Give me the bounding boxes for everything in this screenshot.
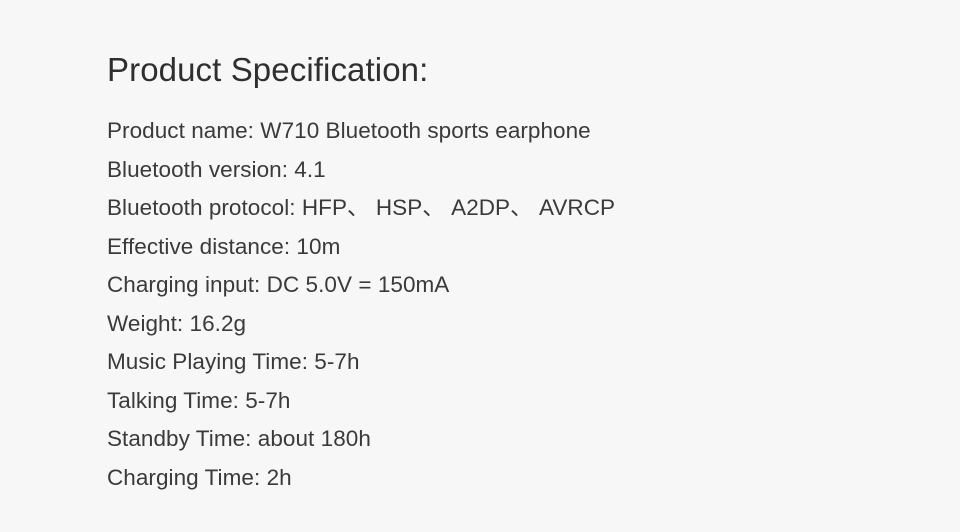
spec-line-product-name: Product name: W710 Bluetooth sports earp… xyxy=(107,112,960,151)
spec-line-bluetooth-version: Bluetooth version: 4.1 xyxy=(107,151,960,190)
spec-line-charging-time: Charging Time: 2h xyxy=(107,459,960,498)
spec-line-charging-input: Charging input: DC 5.0V = 150mA xyxy=(107,266,960,305)
product-specification-page: Product Specification: Product name: W71… xyxy=(0,0,960,532)
spec-line-standby-time: Standby Time: about 180h xyxy=(107,420,960,459)
spec-line-bluetooth-protocol: Bluetooth protocol: HFP、 HSP、 A2DP、 AVRC… xyxy=(107,189,960,228)
spec-line-music-playing-time: Music Playing Time: 5-7h xyxy=(107,343,960,382)
specification-list: Product name: W710 Bluetooth sports earp… xyxy=(107,112,960,497)
specification-content: Product Specification: Product name: W71… xyxy=(107,50,960,497)
spec-line-weight: Weight: 16.2g xyxy=(107,305,960,344)
spec-line-effective-distance: Effective distance: 10m xyxy=(107,228,960,267)
spec-line-talking-time: Talking Time: 5-7h xyxy=(107,382,960,421)
page-title: Product Specification: xyxy=(107,50,960,90)
